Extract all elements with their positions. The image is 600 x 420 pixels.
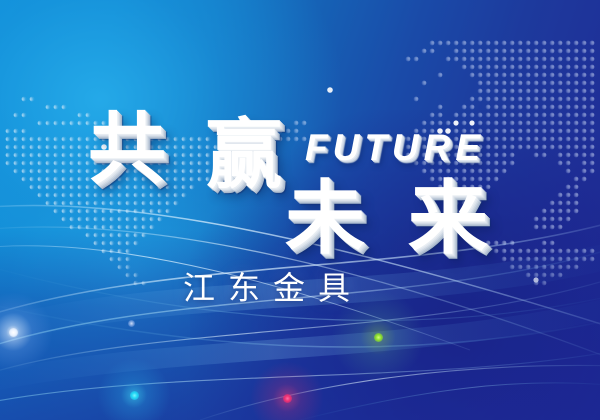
banner-canvas: 共 赢 FUTURE 未 来 江东金具 xyxy=(0,0,600,420)
headline-char-ying: 赢 xyxy=(206,117,282,193)
headline-text-layer: 共 赢 FUTURE 未 来 江东金具 xyxy=(0,0,600,420)
headline-english-future: FUTURE xyxy=(305,129,485,166)
headline-char-wei: 未 xyxy=(285,179,365,259)
headline-char-lai: 来 xyxy=(408,179,488,259)
headline-char-gong: 共 xyxy=(88,111,166,189)
brand-name: 江东金具 xyxy=(183,272,363,304)
